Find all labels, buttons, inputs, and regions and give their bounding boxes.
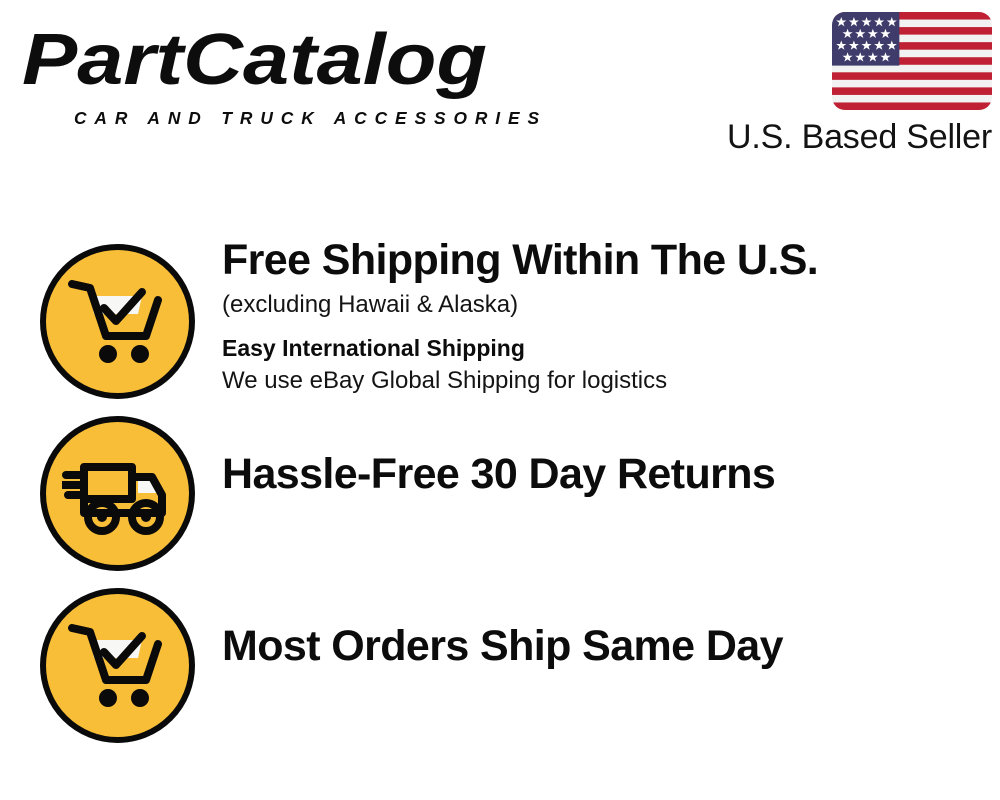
feature-subheading: Easy International Shipping	[222, 334, 982, 363]
svg-text:PartCatalog: PartCatalog	[22, 22, 487, 100]
feature-headline: Free Shipping Within The U.S.	[222, 236, 982, 284]
us-based-seller-badge: U.S. Based Seller	[692, 12, 992, 156]
feature-row: Hassle-Free 30 Day Returns	[0, 408, 1000, 580]
us-based-seller-label: U.S. Based Seller	[692, 119, 992, 156]
brand-wordmark-icon: PartCatalog	[22, 22, 492, 100]
delivery-truck-icon	[40, 416, 195, 571]
shopping-cart-check-icon	[40, 244, 195, 399]
shopping-cart-check-icon	[40, 588, 195, 743]
feature-row: Most Orders Ship Same Day	[0, 580, 1000, 752]
brand-tagline: CAR AND TRUCK ACCESSORIES	[74, 108, 547, 129]
feature-note: (excluding Hawaii & Alaska)	[222, 290, 982, 320]
feature-subtext: We use eBay Global Shipping for logistic…	[222, 366, 982, 396]
feature-text-block: Free Shipping Within The U.S. (excluding…	[222, 236, 982, 396]
us-flag-icon	[832, 12, 992, 110]
feature-headline: Most Orders Ship Same Day	[222, 622, 982, 670]
feature-text-block: Hassle-Free 30 Day Returns	[222, 450, 982, 498]
brand-logo: PartCatalog CAR AND TRUCK ACCESSORIES	[22, 22, 492, 100]
feature-text-block: Most Orders Ship Same Day	[222, 622, 982, 670]
feature-row: Free Shipping Within The U.S. (excluding…	[0, 236, 1000, 408]
feature-headline: Hassle-Free 30 Day Returns	[222, 450, 982, 498]
